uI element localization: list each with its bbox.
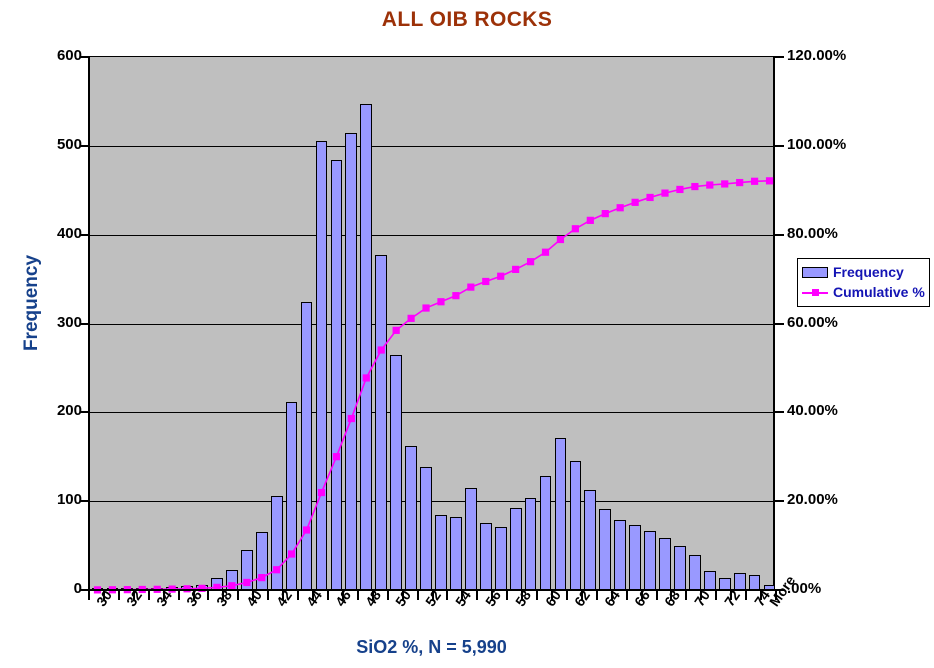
cumulative-marker <box>632 199 639 206</box>
x-tick-mark <box>148 591 150 600</box>
y-tick-mark-left <box>80 145 88 147</box>
cumulative-marker <box>661 189 668 196</box>
y-tick-mark-right <box>775 411 784 413</box>
legend-label-cumulative: Cumulative % <box>833 284 925 300</box>
plot-area <box>88 57 775 590</box>
y-tick-label-left: 500 <box>36 136 82 153</box>
x-tick-mark <box>596 591 598 600</box>
y-axis-right-labels: .00%20.00%40.00%60.00%80.00%100.00%120.0… <box>787 0 927 668</box>
y-axis-title: Frequency <box>21 183 43 423</box>
cumulative-line-series <box>90 57 777 590</box>
cumulative-marker <box>258 574 265 581</box>
frequency-swatch-icon <box>802 267 828 278</box>
y-tick-mark-right <box>775 323 784 325</box>
cumulative-marker <box>378 346 385 353</box>
x-tick-mark <box>297 591 299 600</box>
x-tick-mark <box>387 591 389 600</box>
y-tick-mark-right <box>775 56 784 58</box>
cumulative-marker <box>333 453 340 460</box>
y-tick-label-right: 80.00% <box>787 225 838 242</box>
x-tick-mark <box>446 591 448 600</box>
cumulative-marker <box>646 194 653 201</box>
cumulative-marker <box>557 236 564 243</box>
cumulative-marker <box>482 278 489 285</box>
chart-legend: Frequency Cumulative % <box>797 258 930 307</box>
x-tick-mark <box>357 591 359 600</box>
y-tick-mark-left <box>80 411 88 413</box>
cumulative-marker <box>437 298 444 305</box>
y-tick-mark-right <box>775 500 784 502</box>
x-tick-mark <box>626 591 628 600</box>
x-tick-mark <box>566 591 568 600</box>
chart-root: ALL OIB ROCKS 0100200300400500600 .00%20… <box>0 0 934 668</box>
cumulative-marker <box>527 258 534 265</box>
cumulative-marker <box>318 489 325 496</box>
x-tick-mark <box>207 591 209 600</box>
legend-label-frequency: Frequency <box>833 264 904 280</box>
cumulative-marker <box>348 415 355 422</box>
legend-item-cumulative: Cumulative % <box>802 282 925 302</box>
x-axis-title: SiO2 %, N = 5,990 <box>88 637 775 658</box>
x-tick-mark <box>118 591 120 600</box>
cumulative-marker <box>288 550 295 557</box>
y-tick-label-right: 40.00% <box>787 402 838 419</box>
cumulative-marker <box>422 304 429 311</box>
y-tick-label-left: 600 <box>36 47 82 64</box>
x-tick-mark <box>476 591 478 600</box>
x-tick-mark <box>88 591 90 600</box>
y-tick-mark-right <box>775 145 784 147</box>
x-tick-mark <box>656 591 658 600</box>
cumulative-marker <box>602 210 609 217</box>
cumulative-marker <box>393 327 400 334</box>
cumulative-marker <box>691 183 698 190</box>
y-tick-label-right: 100.00% <box>787 136 846 153</box>
cumulative-marker <box>706 181 713 188</box>
x-tick-mark <box>237 591 239 600</box>
cumulative-marker <box>363 374 370 381</box>
cumulative-marker <box>676 186 683 193</box>
x-tick-mark <box>715 591 717 600</box>
y-tick-label-left: 0 <box>36 580 82 597</box>
y-tick-label-left: 100 <box>36 491 82 508</box>
cumulative-marker <box>542 249 549 256</box>
y-tick-mark-left <box>80 234 88 236</box>
x-tick-mark <box>327 591 329 600</box>
cumulative-marker <box>243 579 250 586</box>
cumulative-marker <box>766 177 773 184</box>
cumulative-marker <box>303 526 310 533</box>
cumulative-marker <box>617 204 624 211</box>
x-tick-mark <box>506 591 508 600</box>
x-tick-mark <box>745 591 747 600</box>
x-tick-mark <box>178 591 180 600</box>
legend-item-frequency: Frequency <box>802 262 925 282</box>
y-tick-label-right: 60.00% <box>787 314 838 331</box>
cumulative-swatch-icon <box>802 287 828 298</box>
y-tick-label-right: 20.00% <box>787 491 838 508</box>
x-tick-mark <box>685 591 687 600</box>
cumulative-marker <box>467 284 474 291</box>
cumulative-marker <box>572 225 579 232</box>
y-tick-mark-right <box>775 234 784 236</box>
cumulative-marker <box>587 217 594 224</box>
x-tick-mark <box>417 591 419 600</box>
y-tick-mark-left <box>80 589 88 591</box>
cumulative-marker <box>452 292 459 299</box>
y-tick-mark-left <box>80 56 88 58</box>
x-tick-mark <box>536 591 538 600</box>
cumulative-polyline <box>97 181 769 590</box>
cumulative-marker <box>408 315 415 322</box>
cumulative-marker <box>273 566 280 573</box>
y-tick-mark-left <box>80 323 88 325</box>
cumulative-marker <box>751 178 758 185</box>
cumulative-marker <box>512 266 519 273</box>
y-tick-label-right: 120.00% <box>787 47 846 64</box>
cumulative-marker <box>736 179 743 186</box>
cumulative-marker <box>497 273 504 280</box>
cumulative-marker <box>721 180 728 187</box>
x-tick-mark <box>267 591 269 600</box>
y-tick-mark-left <box>80 500 88 502</box>
